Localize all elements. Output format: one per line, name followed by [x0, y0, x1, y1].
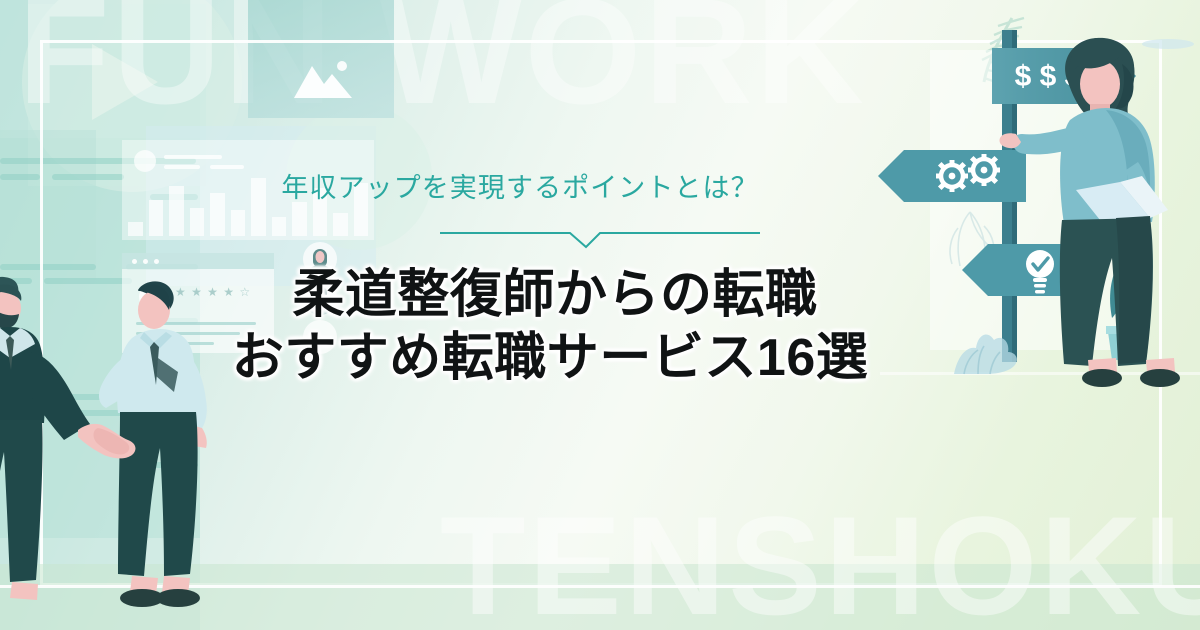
divider-ornament — [440, 225, 760, 249]
thumbnail-canvas: FUN WORK ★ ★ ★ ★ ☆ + TENSHOKU — [0, 0, 1200, 630]
watermark-bottom: TENSHOKU — [440, 496, 1200, 630]
page-title: 柔道整復師からの転職 おすすめ転職サービス16選 — [0, 264, 1200, 391]
subtitle: 年収アップを実現するポイントとは？ — [0, 166, 1200, 205]
cloud-icon — [1142, 39, 1194, 49]
subtitle-text: 年収アップを実現するポイントとは？ — [281, 166, 758, 205]
title-line-1: 柔道整復師からの転職 — [0, 264, 1200, 327]
title-line-2: おすすめ転職サービス16選 — [0, 327, 1200, 390]
